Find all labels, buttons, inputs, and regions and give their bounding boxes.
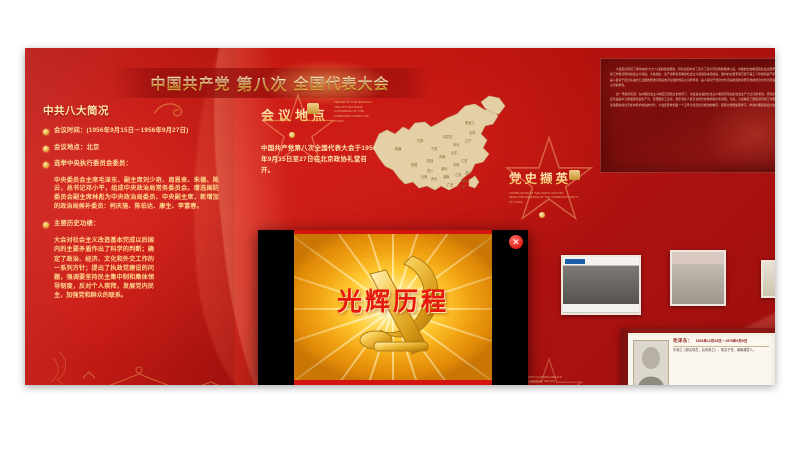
photo-header bbox=[563, 257, 639, 266]
svg-text:广西: 广西 bbox=[447, 182, 453, 187]
svg-text:河北: 河北 bbox=[453, 142, 460, 147]
right-card-text: 大会完全同意了把中央的“七大”以来的政治报告，同时决定中央了完全了完全同意党的路… bbox=[610, 67, 775, 165]
svg-text:陕西: 陕西 bbox=[427, 158, 433, 163]
mao-dates: 1893年12月26日－1976年9月9日 bbox=[696, 339, 748, 344]
svg-text:贵州: 贵州 bbox=[431, 176, 437, 181]
svg-text:新疆: 新疆 bbox=[395, 146, 402, 151]
svg-text:安徽: 安徽 bbox=[453, 162, 460, 167]
history-heading: 党史撷英 bbox=[509, 168, 571, 187]
left-bullet-election-label: 选举中央执行委员会委员： bbox=[54, 160, 132, 169]
venue-heading-row: 会议地点 VENUE OF THE MEETING THE 8TH NATION… bbox=[261, 100, 379, 124]
svg-text:湖南: 湖南 bbox=[443, 174, 449, 179]
list-item[interactable] bbox=[670, 250, 726, 306]
swirl-ornament-icon bbox=[153, 100, 189, 120]
achievement-paragraph: 大会对社会主义改造基本完成以后国内的主要矛盾作出了科学的判断；确定了政治、经济、… bbox=[54, 236, 154, 300]
photo-tag-icon bbox=[565, 259, 585, 264]
achievement-label: 主要历史功绩： bbox=[54, 220, 99, 229]
screenshot-root: 中国共产党 第八次 全国代表大会 中共八大简况 会议时间：(1956年9月15日… bbox=[0, 0, 800, 450]
avatar bbox=[633, 340, 669, 385]
bullet-dot-icon bbox=[43, 129, 49, 135]
photo-image bbox=[563, 266, 639, 304]
svg-text:西藏: 西藏 bbox=[411, 162, 418, 167]
video-title: 光辉历程 bbox=[294, 282, 492, 318]
left-bullet-election: 选举中央执行委员会委员： bbox=[43, 160, 219, 169]
left-bullet-place: 会议地点：北京 bbox=[43, 144, 219, 153]
mao-intro: 字润之《原名咏芝，后改润之》，笔名子任，湖南湘潭人。 bbox=[673, 348, 769, 353]
svg-text:湖北: 湖北 bbox=[441, 166, 448, 171]
svg-text:吉林: 吉林 bbox=[469, 130, 476, 135]
photo-footer bbox=[563, 304, 639, 312]
right-card-paragraph-2: 这一矛盾的实质，在中国社会主义制度已经建立的情况下，也就是先进的社会主义制度同落… bbox=[610, 92, 775, 108]
video-title-text: 光辉历程 bbox=[337, 289, 449, 316]
bullet-dot-icon bbox=[43, 146, 49, 152]
svg-text:福建: 福建 bbox=[461, 178, 468, 183]
close-icon[interactable]: ✕ bbox=[509, 235, 523, 249]
mao-biography-card[interactable]: 毛泽东： 1893年12月26日－1976年9月9日 字润之《原名咏芝，后改润之… bbox=[621, 328, 775, 385]
mao-name: 毛泽东： bbox=[673, 338, 693, 344]
svg-text:广东: 广东 bbox=[459, 184, 465, 189]
svg-text:内蒙古: 内蒙古 bbox=[443, 134, 453, 139]
portrait-icon bbox=[634, 341, 668, 385]
venue-badge-icon bbox=[307, 103, 319, 114]
svg-text:云南: 云南 bbox=[421, 174, 427, 179]
presentation-canvas: 中国共产党 第八次 全国代表大会 中共八大简况 会议时间：(1956年9月15日… bbox=[25, 48, 775, 385]
bullet-dot-icon bbox=[43, 162, 49, 168]
left-bullet-achievement: 主要历史功绩： bbox=[43, 220, 219, 229]
svg-text:江苏: 江苏 bbox=[461, 158, 468, 163]
video-frame[interactable]: 光辉历程 bbox=[294, 230, 492, 385]
history-heading-en: COMPILATION OF THE PARTY HISTORY SELECTE… bbox=[509, 191, 579, 204]
book-heading-row: 毛泽东： 1893年12月26日－1976年9月9日 bbox=[673, 338, 769, 344]
committee-paragraph: 中央委员会主席毛泽东、副主席刘少奇、周恩来、朱德、陈云，总书记邓小平，组成中央政… bbox=[54, 177, 219, 212]
book-rule bbox=[673, 346, 769, 347]
left-column-heading: 中共八大简况 bbox=[43, 103, 219, 118]
left-bullet-time: 会议时间：(1956年9月15日－1956年9月27日) bbox=[43, 127, 219, 136]
svg-text:辽宁: 辽宁 bbox=[465, 138, 471, 143]
photo-image bbox=[672, 252, 724, 264]
right-text-card: 大会完全同意了把中央的“七大”以来的政治报告，同时决定中央了完全了完全同意党的路… bbox=[600, 58, 775, 173]
list-item[interactable] bbox=[761, 260, 775, 298]
venue-section: 会议地点 VENUE OF THE MEETING THE 8TH NATION… bbox=[261, 100, 379, 177]
svg-text:宁夏: 宁夏 bbox=[431, 146, 438, 151]
bullet-dot-icon bbox=[43, 222, 49, 228]
china-map-icon: 新疆甘肃宁夏 内蒙古黑龙江吉林 辽宁河北山东 河南陕西西藏 四川湖北安徽 江苏湖… bbox=[365, 90, 515, 202]
svg-text:甘肃: 甘肃 bbox=[417, 138, 424, 143]
video-top-band bbox=[294, 230, 492, 234]
left-bullet-time-label: 会议时间：(1956年9月15日－1956年9月27日) bbox=[54, 127, 188, 136]
list-item[interactable] bbox=[561, 255, 641, 315]
left-bullet-place-label: 会议地点：北京 bbox=[54, 144, 99, 153]
tiananmen-lineart-icon bbox=[43, 348, 233, 385]
svg-text:江西: 江西 bbox=[455, 172, 461, 177]
svg-text:四川: 四川 bbox=[427, 169, 433, 173]
left-info-column: 中共八大简况 会议时间：(1956年9月15日－1956年9月27日) 会议地点… bbox=[43, 103, 219, 300]
svg-text:山东: 山东 bbox=[451, 150, 457, 155]
svg-text:河南: 河南 bbox=[439, 154, 445, 159]
history-badge-icon bbox=[569, 170, 580, 180]
party-history-section: 党史撷英 COMPILATION OF THE PARTY HISTORY SE… bbox=[509, 168, 617, 218]
svg-text:浙江: 浙江 bbox=[465, 170, 472, 175]
close-icon-glyph: ✕ bbox=[509, 235, 523, 249]
title-part-1: 中国共产党 bbox=[150, 73, 230, 94]
svg-text:黑龙江: 黑龙江 bbox=[465, 120, 475, 125]
right-card-paragraph-1: 大会完全同意了把中央的“七大”以来的政治报告，同时决定中央了完全了完全同意党的路… bbox=[610, 67, 775, 88]
video-bottom-band bbox=[294, 380, 492, 385]
video-overlay[interactable]: 光辉历程 ✕ bbox=[258, 230, 528, 385]
